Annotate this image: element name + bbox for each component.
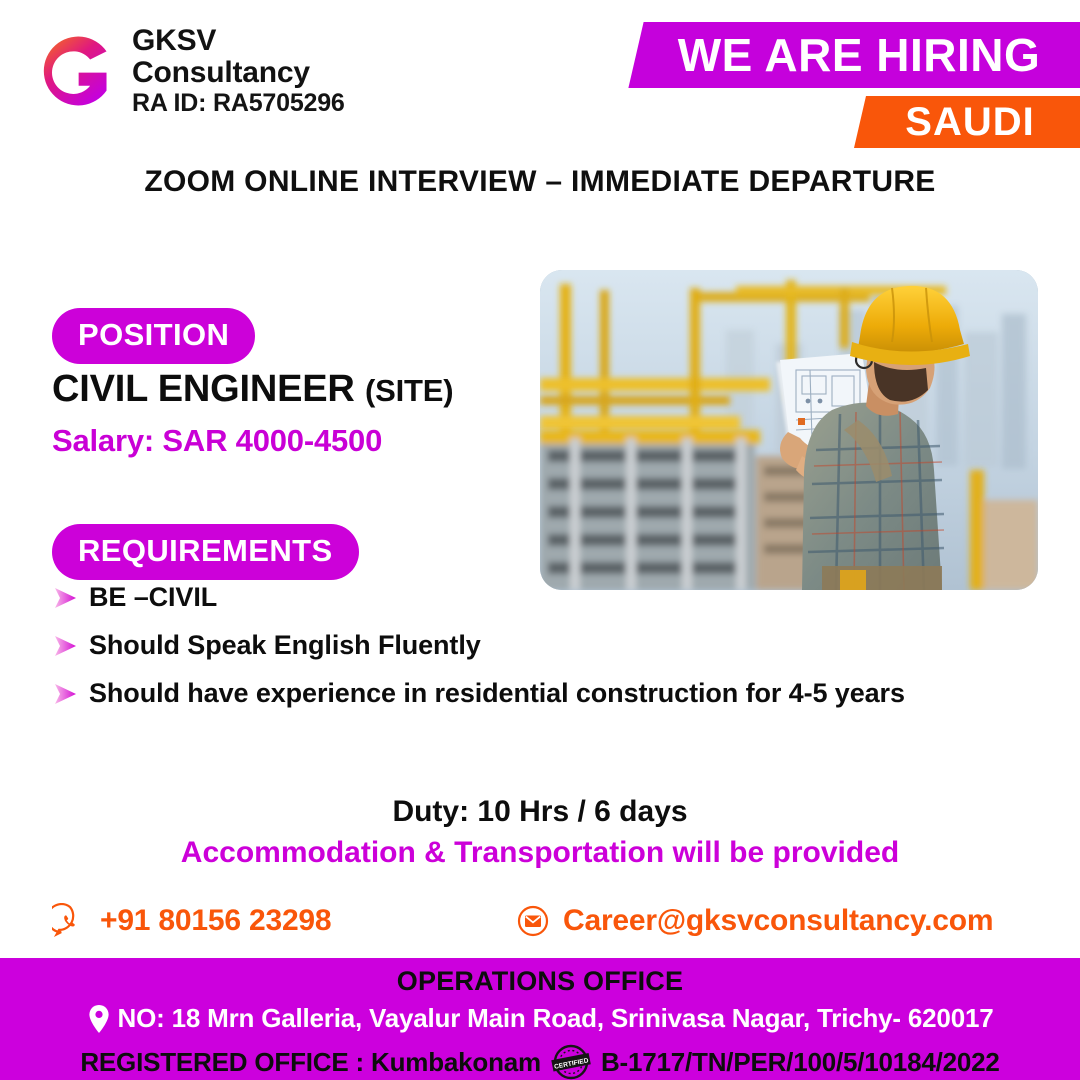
brand-name-line2: Consultancy: [132, 58, 345, 88]
requirements-pill: REQUIREMENTS: [52, 524, 359, 580]
requirements-list: BE –CIVIL Should Speak English Fluently: [52, 582, 1012, 726]
benefits-text: Accommodation & Transportation will be p…: [0, 836, 1080, 870]
location-pin-icon: [87, 1004, 111, 1034]
whatsapp-icon: [52, 903, 88, 939]
arrow-bullet-icon: [52, 682, 78, 706]
list-item: BE –CIVIL: [52, 582, 1012, 613]
phone-number: +91 80156 23298: [100, 904, 331, 938]
job-title-sub: (SITE): [365, 373, 453, 408]
duty-text: Duty: 10 Hrs / 6 days: [0, 795, 1080, 829]
registered-office-label: REGISTERED OFFICE : Kumbakonam: [80, 1047, 541, 1078]
contact-row: +91 80156 23298 Career@gksvconsultancy.c…: [0, 903, 1080, 957]
whatsapp-contact[interactable]: +91 80156 23298: [52, 903, 331, 939]
job-poster: GKSV Consultancy RA ID: RA5705296 WE ARE…: [0, 0, 1080, 1080]
footer-registered-row: REGISTERED OFFICE : Kumbakonam CERTIFIED…: [0, 1042, 1080, 1080]
brand-name-line1: GKSV: [132, 26, 345, 56]
brand-ra-id: RA ID: RA5705296: [132, 91, 345, 116]
interview-headline: ZOOM ONLINE INTERVIEW – IMMEDIATE DEPART…: [0, 165, 1080, 199]
we-are-hiring-label: WE ARE HIRING: [636, 22, 1080, 88]
country-label: SAUDI: [860, 96, 1080, 148]
footer-title: OPERATIONS OFFICE: [0, 966, 1080, 997]
job-title: CIVIL ENGINEER (SITE): [52, 368, 453, 411]
certified-stamp-icon: CERTIFIED: [549, 1042, 593, 1080]
salary-text: Salary: SAR 4000-4500: [52, 423, 382, 459]
brand-logo: GKSV Consultancy RA ID: RA5705296: [36, 26, 345, 116]
license-number: B-1717/TN/PER/100/5/10184/2022: [601, 1047, 1000, 1078]
email-contact[interactable]: Career@gksvconsultancy.com: [515, 903, 993, 939]
footer-address: NO: 18 Mrn Galleria, Vayalur Main Road, …: [118, 1003, 994, 1034]
footer-address-row: NO: 18 Mrn Galleria, Vayalur Main Road, …: [0, 1003, 1080, 1034]
footer-band: OPERATIONS OFFICE NO: 18 Mrn Galleria, V…: [0, 958, 1080, 1080]
email-icon: [515, 903, 551, 939]
job-title-main: CIVIL ENGINEER: [52, 368, 365, 410]
requirement-text: Should have experience in residential co…: [89, 678, 905, 709]
position-pill: POSITION: [52, 308, 255, 364]
requirement-text: Should Speak English Fluently: [89, 630, 481, 661]
list-item: Should Speak English Fluently: [52, 630, 1012, 661]
gksv-g-logo-icon: [36, 30, 118, 112]
we-are-hiring-banner: WE ARE HIRING: [628, 22, 1080, 88]
arrow-bullet-icon: [52, 586, 78, 610]
requirement-text: BE –CIVIL: [89, 582, 217, 613]
list-item: Should have experience in residential co…: [52, 678, 1012, 709]
construction-engineer-photo: [540, 270, 1038, 590]
arrow-bullet-icon: [52, 634, 78, 658]
country-banner: SAUDI: [854, 96, 1080, 148]
email-address: Career@gksvconsultancy.com: [563, 904, 993, 938]
